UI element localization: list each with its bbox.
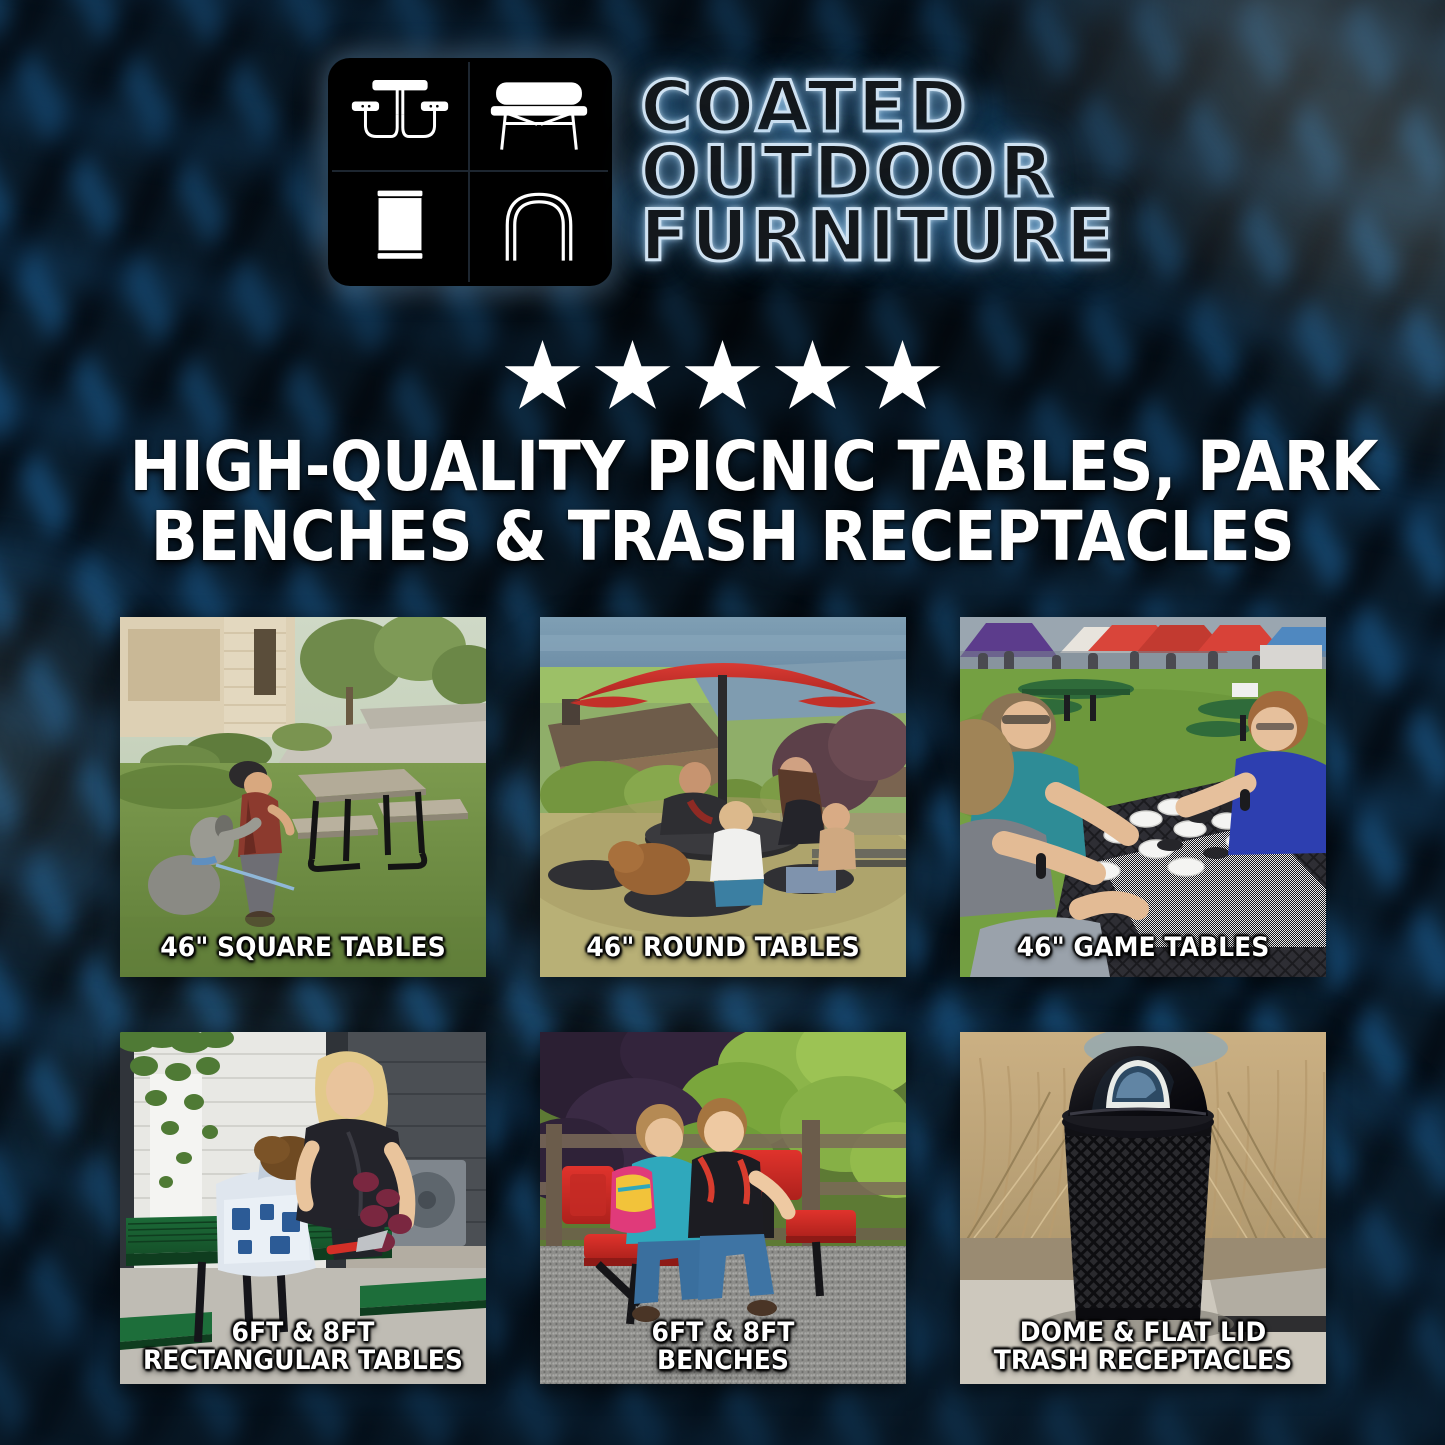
arch-bench-arm-icon xyxy=(470,172,608,282)
brand-header: COATED OUTDOOR FURNITURE xyxy=(0,58,1445,286)
headline-line-2: BENCHES & TRASH RECEPTACLES xyxy=(130,502,1316,572)
product-caption-round-tables: 46" ROUND TABLES xyxy=(553,934,893,963)
product-category-grid: 46" SQUARE TABLES xyxy=(120,617,1325,1384)
product-caption-rectangular-tables: 6FT & 8FT RECTANGULAR TABLES xyxy=(133,1319,473,1376)
star-rating xyxy=(0,340,1445,414)
star-icon xyxy=(595,340,671,414)
bench-table-side-icon xyxy=(470,62,608,172)
product-photo-round-tables xyxy=(540,617,906,977)
caption-line: BENCHES xyxy=(553,1347,893,1376)
brand-wordmark: COATED OUTDOOR FURNITURE xyxy=(640,75,1117,268)
product-tile-round-tables[interactable]: 46" ROUND TABLES xyxy=(540,617,906,977)
picnic-table-front-icon xyxy=(332,62,470,172)
star-icon xyxy=(775,340,851,414)
star-icon xyxy=(685,340,761,414)
caption-line: RECTANGULAR TABLES xyxy=(133,1347,473,1376)
product-caption-benches: 6FT & 8FT BENCHES xyxy=(553,1319,893,1376)
product-tile-benches[interactable]: 6FT & 8FT BENCHES xyxy=(540,1032,906,1384)
promotional-poster: COATED OUTDOOR FURNITURE HIGH-QUALITY PI… xyxy=(0,0,1445,1445)
product-tile-trash-receptacles[interactable]: DOME & FLAT LID TRASH RECEPTACLES xyxy=(960,1032,1326,1384)
logo-icon-grid xyxy=(328,58,612,286)
caption-line: 6FT & 8FT xyxy=(133,1319,473,1348)
product-caption-game-tables: 46" GAME TABLES xyxy=(973,934,1313,963)
headline-block: HIGH-QUALITY PICNIC TABLES, PARK BENCHES… xyxy=(0,432,1445,573)
product-tile-rectangular-tables[interactable]: 6FT & 8FT RECTANGULAR TABLES xyxy=(120,1032,486,1384)
caption-line: 46" GAME TABLES xyxy=(973,934,1313,963)
trash-receptacle-icon xyxy=(332,172,470,282)
caption-line: DOME & FLAT LID xyxy=(973,1319,1313,1348)
caption-line: TRASH RECEPTACLES xyxy=(973,1347,1313,1376)
star-icon xyxy=(505,340,581,414)
product-caption-square-tables: 46" SQUARE TABLES xyxy=(133,934,473,963)
product-photo-square-tables xyxy=(120,617,486,977)
brand-line-3: FURNITURE xyxy=(640,204,1117,268)
product-caption-trash-receptacles: DOME & FLAT LID TRASH RECEPTACLES xyxy=(973,1319,1313,1376)
product-photo-game-tables xyxy=(960,617,1326,977)
product-tile-game-tables[interactable]: 46" GAME TABLES xyxy=(960,617,1326,977)
caption-line: 46" ROUND TABLES xyxy=(553,934,893,963)
caption-line: 46" SQUARE TABLES xyxy=(133,934,473,963)
star-icon xyxy=(865,340,941,414)
caption-line: 6FT & 8FT xyxy=(553,1319,893,1348)
headline-line-1: HIGH-QUALITY PICNIC TABLES, PARK xyxy=(130,432,1316,502)
product-tile-square-tables[interactable]: 46" SQUARE TABLES xyxy=(120,617,486,977)
logo-lockup: COATED OUTDOOR FURNITURE xyxy=(328,58,1117,286)
